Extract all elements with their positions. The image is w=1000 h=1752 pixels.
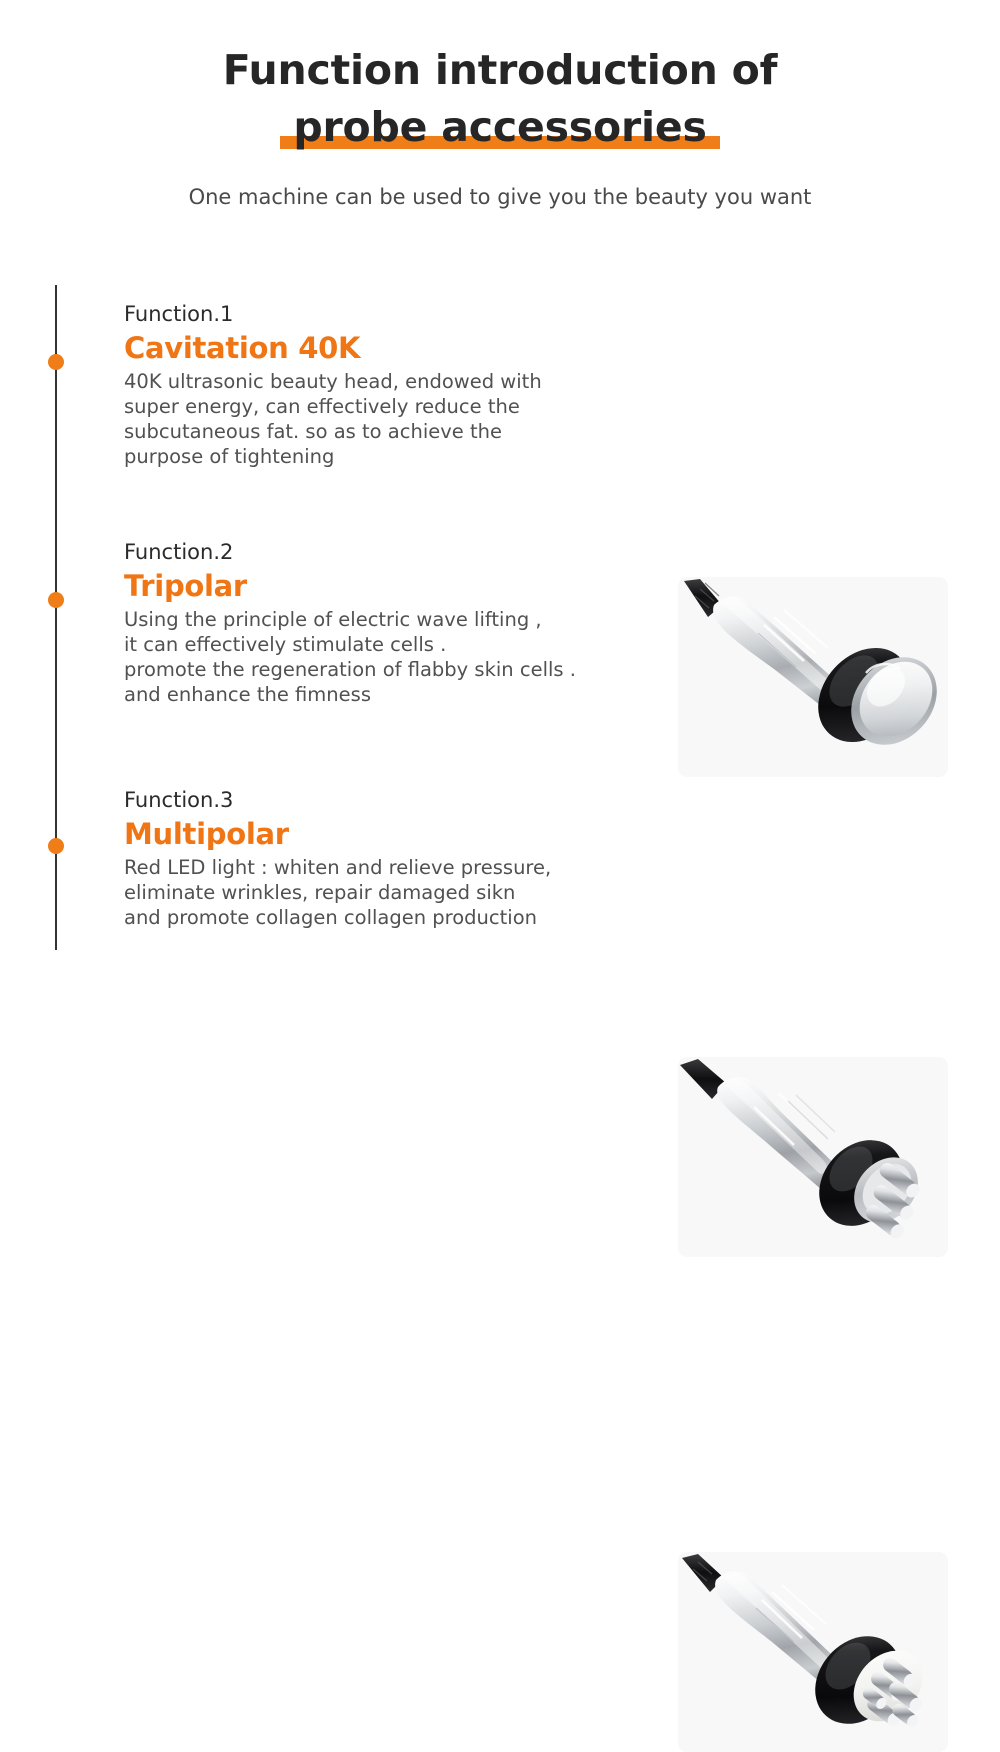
function-1-description: 40K ultrasonic beauty head, endowed with… xyxy=(124,369,664,469)
timeline-dot-2 xyxy=(48,592,64,608)
cavitation-probe-illustration xyxy=(678,577,948,777)
tripolar-probe-photo xyxy=(678,1057,948,1257)
function-3-label: Function.3 xyxy=(124,786,664,814)
function-1-label: Function.1 xyxy=(124,300,664,328)
function-2-label: Function.2 xyxy=(124,538,664,566)
page-title-line-2: probe accessories xyxy=(293,103,706,151)
function-3-description: Red LED light : whiten and relieve press… xyxy=(124,855,664,930)
function-3-text: Function.3 Multipolar Red LED light : wh… xyxy=(124,786,664,930)
function-2-description: Using the principle of electric wave lif… xyxy=(124,607,664,707)
page-title-line-2-wrapper: probe accessories xyxy=(293,99,706,156)
function-2-text: Function.2 Tripolar Using the principle … xyxy=(124,538,664,707)
function-3-title: Multipolar xyxy=(124,816,664,852)
function-2-title: Tripolar xyxy=(124,568,664,604)
function-1-title: Cavitation 40K xyxy=(124,330,664,366)
tripolar-probe-illustration xyxy=(678,1057,948,1257)
page-header: Function introduction of probe accessori… xyxy=(0,0,1000,240)
cavitation-40k-probe-photo xyxy=(678,577,948,777)
page-title: Function introduction of probe accessori… xyxy=(0,42,1000,156)
multipolar-probe-photo xyxy=(678,1552,948,1752)
multipolar-probe-illustration xyxy=(678,1552,948,1752)
timeline-dot-1 xyxy=(48,354,64,370)
timeline-dot-3 xyxy=(48,838,64,854)
page-title-line-1: Function introduction of xyxy=(0,42,1000,99)
page-subtitle: One machine can be used to give you the … xyxy=(0,182,1000,212)
function-1-text: Function.1 Cavitation 40K 40K ultrasonic… xyxy=(124,300,664,469)
